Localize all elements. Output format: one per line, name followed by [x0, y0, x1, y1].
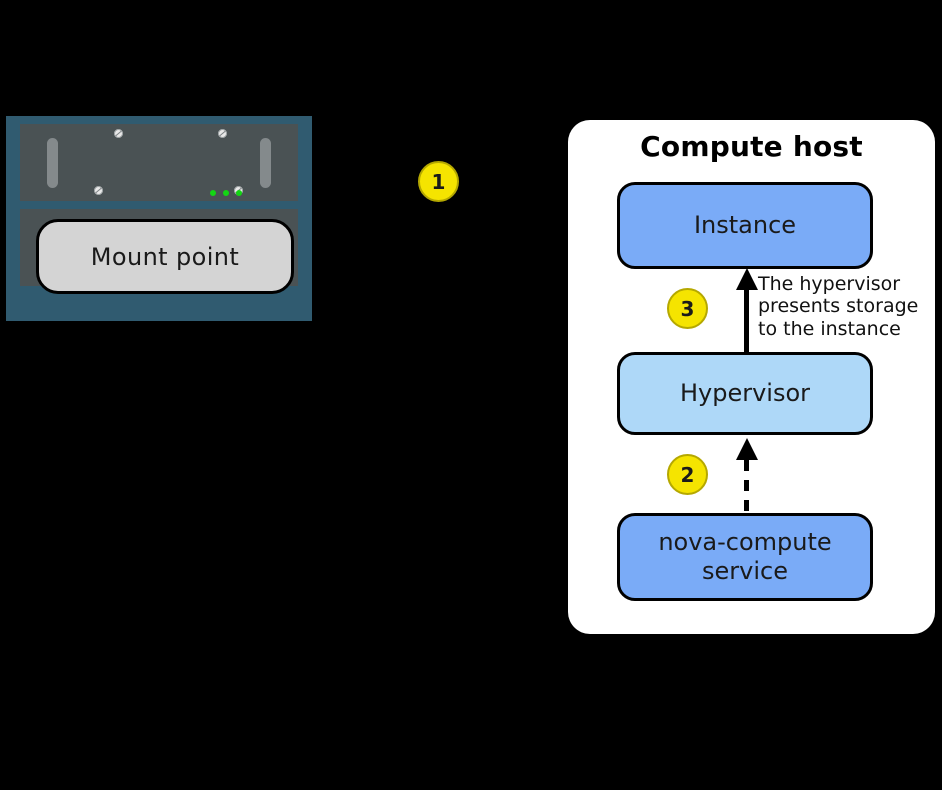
nova-compute-label: nova-compute service: [658, 528, 831, 587]
step-badge-3: 3: [667, 288, 708, 329]
status-led-icon: [223, 190, 229, 196]
step-badge-2: 2: [667, 454, 708, 495]
status-led-icon: [236, 190, 242, 196]
instance-box: Instance: [617, 182, 873, 269]
rack-handle-left-icon: [47, 138, 58, 188]
screw-top-right-icon: [218, 129, 227, 138]
rack-handle-right-icon: [260, 138, 271, 188]
compute-host-title: Compute host: [568, 130, 935, 163]
hypervisor-annotation-line2: presents storage: [758, 295, 933, 317]
arrow-nova-compute-to-hypervisor-head: [736, 438, 758, 460]
mount-point-label: Mount point: [91, 243, 239, 271]
status-led-icon: [210, 190, 216, 196]
storage-array: Mount point: [6, 116, 312, 321]
hypervisor-box: Hypervisor: [617, 352, 873, 435]
arrow-hypervisor-to-instance-shaft: [744, 290, 749, 353]
hypervisor-annotation-line1: The hypervisor: [758, 273, 933, 295]
step-badge-1: 1: [418, 161, 459, 202]
arrow-nova-compute-to-hypervisor-shaft: [744, 460, 749, 515]
nova-compute-box: nova-compute service: [617, 513, 873, 601]
hypervisor-annotation: The hypervisor presents storage to the i…: [758, 273, 933, 340]
nova-compute-label-line1: nova-compute: [658, 528, 831, 556]
screw-top-left-icon: [114, 129, 123, 138]
hypervisor-annotation-line3: to the instance: [758, 318, 933, 340]
screw-bottom-left-icon: [94, 186, 103, 195]
status-led-group: [210, 190, 242, 196]
arrow-hypervisor-to-instance-head: [736, 268, 758, 290]
compute-host-panel: Compute host Instance The hypervisor pre…: [568, 120, 935, 634]
rack-unit-top: [20, 124, 298, 201]
mount-point-box: Mount point: [36, 219, 294, 294]
nova-compute-label-line2: service: [702, 557, 788, 585]
instance-label: Instance: [694, 211, 796, 240]
hypervisor-label: Hypervisor: [680, 379, 810, 408]
